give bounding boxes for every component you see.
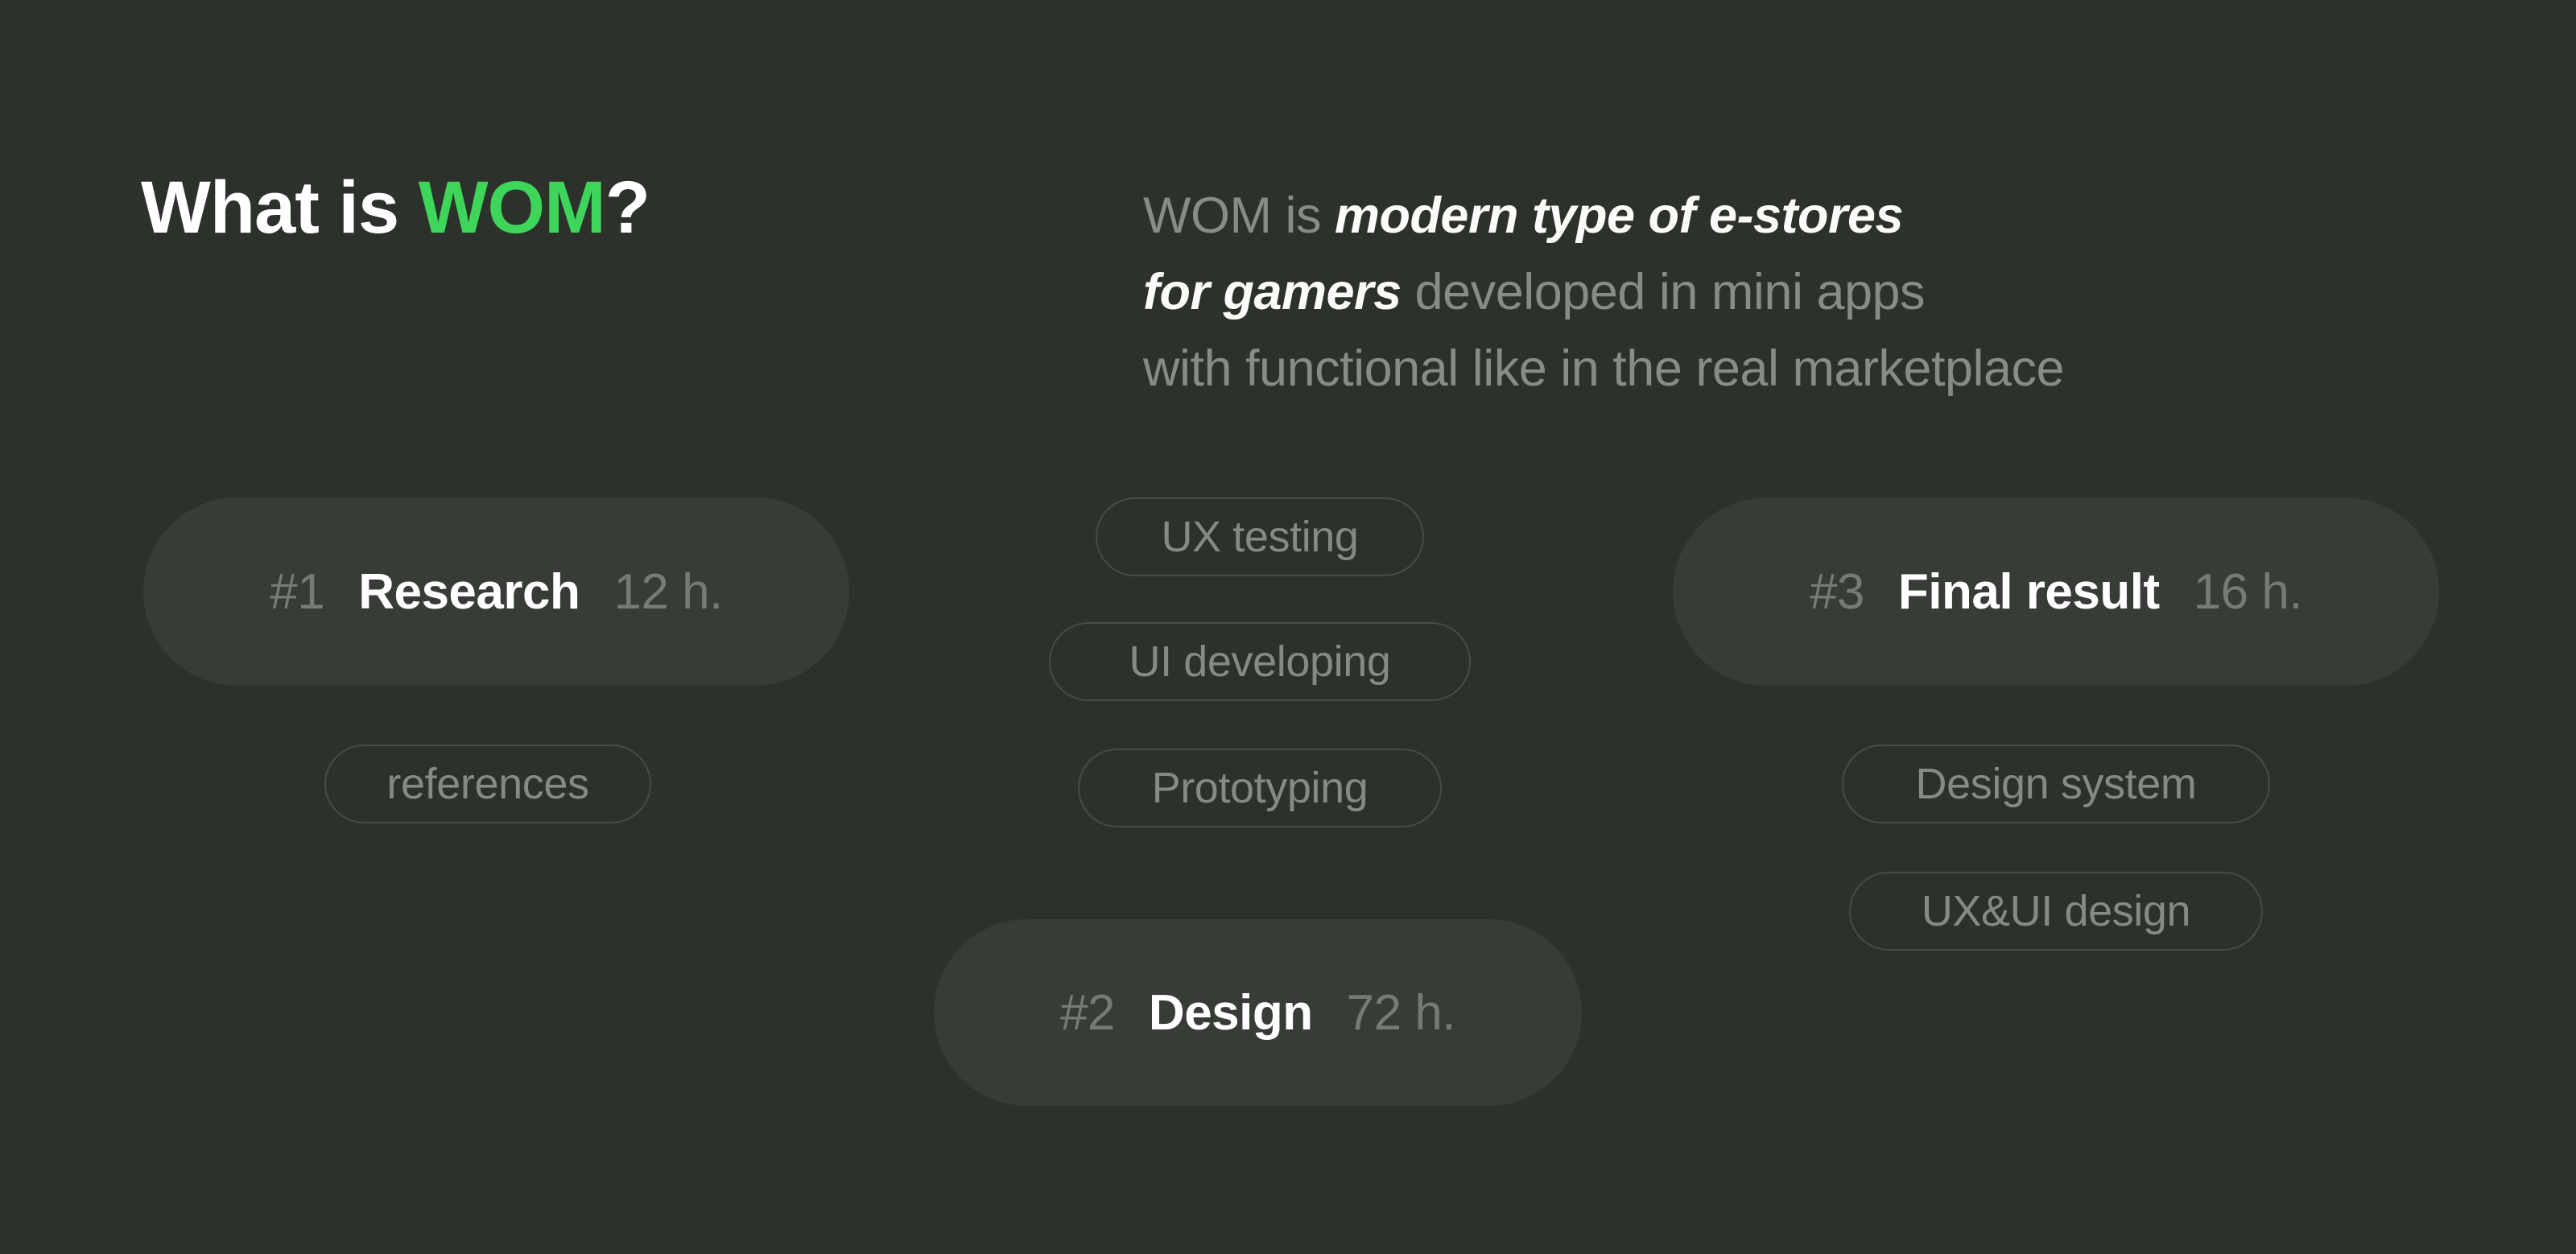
header-section: What is WOM? WOM is modern type of e-sto…: [0, 0, 2576, 419]
page-title-prefix: What is: [141, 167, 419, 249]
stage-hours: 12 h.: [613, 563, 722, 621]
intro-line2-emphasis: for gamers: [1143, 264, 1402, 320]
tag-pill-ui-developing[interactable]: UI developing: [1049, 622, 1471, 701]
tag-pill-prototyping[interactable]: Prototyping: [1078, 749, 1442, 827]
stage-card-research[interactable]: #1 Research 12 h.: [143, 497, 849, 686]
intro-line1-emphasis: modern type of e-stores: [1335, 188, 1903, 244]
stage-number: #3: [1810, 563, 1864, 621]
intro-line3: with functional like in the real marketp…: [1143, 340, 2064, 397]
page-title-accent: WOM: [419, 167, 605, 249]
intro-line1-lead: WOM is: [1143, 188, 1335, 244]
page-title: What is WOM?: [141, 171, 650, 245]
tag-pill-design-system[interactable]: Design system: [1842, 745, 2270, 823]
stage-card-final-result[interactable]: #3 Final result 16 h.: [1673, 497, 2439, 686]
stage-hours: 16 h.: [2194, 563, 2302, 621]
stage-name: Research: [358, 563, 580, 621]
intro-paragraph: WOM is modern type of e-storesfor gamers…: [1143, 178, 2512, 407]
stage-number: #1: [270, 563, 324, 621]
stage-hours: 72 h.: [1347, 984, 1455, 1042]
stage-name: Design: [1149, 984, 1313, 1042]
stage-card-design[interactable]: #2 Design 72 h.: [934, 919, 1582, 1106]
tag-pill-uxui-design[interactable]: UX&UI design: [1849, 872, 2263, 951]
page-title-suffix: ?: [605, 167, 650, 249]
stage-number: #2: [1060, 984, 1115, 1042]
tag-pill-references[interactable]: references: [324, 745, 651, 823]
stage-name: Final result: [1898, 563, 2160, 621]
tag-pill-ux-testing[interactable]: UX testing: [1096, 497, 1424, 576]
intro-line2-tail: developed in mini apps: [1402, 264, 1925, 320]
